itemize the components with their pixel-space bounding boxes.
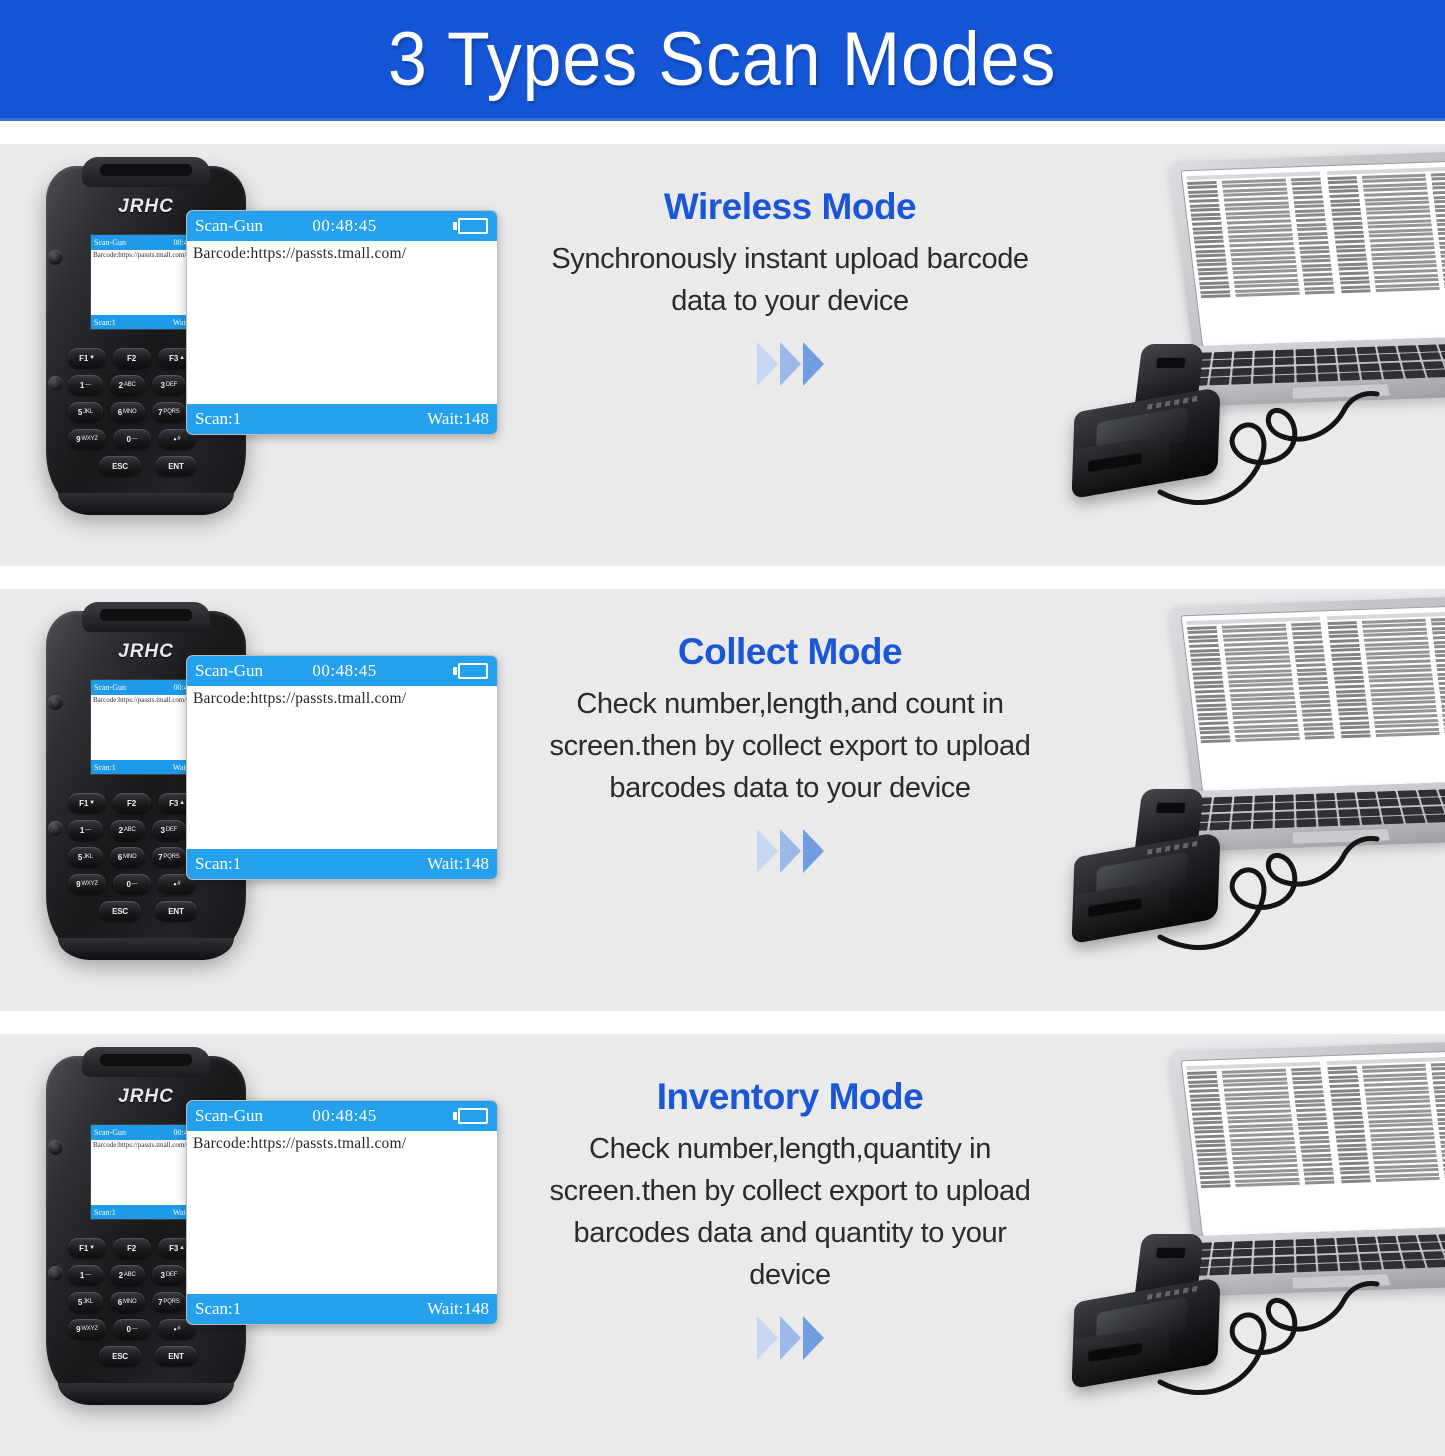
- key-9[interactable]: 9WXYZ: [68, 1319, 106, 1339]
- embedded-screen-title: Scan-Gun: [94, 1128, 126, 1137]
- chevron-right-icon: [757, 342, 778, 386]
- key-6[interactable]: 6MNO: [110, 847, 145, 867]
- scanner-screen-callout: Scan-Gun 00:48:45 Barcode:https://passts…: [186, 655, 498, 880]
- panel-gap: [0, 1011, 1445, 1034]
- embedded-scan-count: Scan:1: [94, 1208, 116, 1217]
- screen-clock: 00:48:45: [312, 1106, 376, 1126]
- screen-barcode-text: Barcode:https://passts.tmall.com/: [187, 686, 497, 849]
- screen-titlebar: Scan-Gun 00:48:45: [187, 211, 497, 241]
- screen-clock: 00:48:45: [312, 216, 376, 236]
- keypad-row-control: ESCENT: [68, 1346, 228, 1366]
- key-esc[interactable]: ESC: [99, 456, 141, 476]
- chevron-right-triple-icon: [757, 829, 824, 873]
- mode-panel-wireless: JRHC Scan-Gun 00:48:45 Barcode:https://p…: [0, 144, 1445, 566]
- screen-statusbar: Scan:1 Wait:148: [187, 404, 497, 434]
- key-f2[interactable]: F2: [113, 793, 151, 813]
- scan-count: Scan:1: [195, 409, 241, 429]
- mode-text-collect: Collect Mode Check number,length,and cou…: [520, 589, 1060, 1011]
- key-3[interactable]: 3DEF: [152, 820, 187, 840]
- battery-icon: [453, 218, 488, 234]
- scanner-illustration-inventory: JRHC Scan-Gun 00:48:45 Barcode:https://p…: [38, 1048, 508, 1443]
- key-ent[interactable]: ENT: [155, 456, 197, 476]
- key-1[interactable]: 1—: [68, 1265, 103, 1285]
- usb-cable-icon: [1055, 589, 1445, 1011]
- screen-title: Scan-Gun: [195, 1106, 263, 1126]
- key-2[interactable]: 2ABC: [110, 1265, 145, 1285]
- screen-barcode-text: Barcode:https://passts.tmall.com/: [187, 241, 497, 404]
- screw-icon: [48, 1140, 63, 1155]
- screen-title: Scan-Gun: [195, 661, 263, 681]
- scanner-head: [82, 157, 210, 187]
- embedded-screen-title: Scan-Gun: [94, 238, 126, 247]
- key-ent[interactable]: ENT: [155, 901, 197, 921]
- key-5[interactable]: 5JKL: [68, 847, 103, 867]
- keypad-row-control: ESCENT: [68, 901, 228, 921]
- key-6[interactable]: 6MNO: [110, 402, 145, 422]
- key-0[interactable]: 0—: [113, 874, 151, 894]
- laptop-cradle-scene: [1055, 1034, 1445, 1456]
- key-9[interactable]: 9WXYZ: [68, 874, 106, 894]
- screen-title: Scan-Gun: [195, 216, 263, 236]
- usb-cable-icon: [1055, 144, 1445, 566]
- wait-count: Wait:148: [427, 409, 489, 429]
- key-1[interactable]: 1—: [68, 820, 103, 840]
- mode-panel-collect: JRHC Scan-Gun 00:48:45 Barcode:https://p…: [0, 589, 1445, 1011]
- scanner-head: [82, 1047, 210, 1077]
- key-5[interactable]: 5JKL: [68, 1292, 103, 1312]
- scan-count: Scan:1: [195, 854, 241, 874]
- key-f1[interactable]: F1▼: [68, 1238, 106, 1258]
- screw-icon: [48, 1266, 63, 1281]
- key-f2[interactable]: F2: [113, 1238, 151, 1258]
- screen-statusbar: Scan:1 Wait:148: [187, 1294, 497, 1324]
- key-9[interactable]: 9WXYZ: [68, 429, 106, 449]
- scanner-foot: [58, 493, 234, 515]
- scanner-illustration-wireless: JRHC Scan-Gun 00:48:45 Barcode:https://p…: [38, 158, 508, 553]
- mode-title: Wireless Mode: [664, 186, 916, 228]
- screw-icon: [48, 250, 63, 265]
- embedded-scan-count: Scan:1: [94, 763, 116, 772]
- scan-count: Scan:1: [195, 1299, 241, 1319]
- scanner-illustration-collect: JRHC Scan-Gun 00:48:45 Barcode:https://p…: [38, 603, 508, 998]
- battery-icon: [453, 663, 488, 679]
- chevron-right-icon: [803, 1316, 824, 1360]
- screw-icon: [48, 695, 63, 710]
- chevron-right-icon: [780, 342, 801, 386]
- key-f1[interactable]: F1▼: [68, 348, 106, 368]
- key-esc[interactable]: ESC: [99, 1346, 141, 1366]
- key-f1[interactable]: F1▼: [68, 793, 106, 813]
- header-banner: 3 Types Scan Modes: [0, 0, 1445, 118]
- key-7[interactable]: 7PQRS: [152, 1292, 187, 1312]
- screw-icon: [48, 376, 63, 391]
- key-2[interactable]: 2ABC: [110, 820, 145, 840]
- key-2[interactable]: 2ABC: [110, 375, 145, 395]
- chevron-right-icon: [780, 829, 801, 873]
- chevron-right-icon: [803, 829, 824, 873]
- key-5[interactable]: 5JKL: [68, 402, 103, 422]
- laptop-cradle-scene: [1055, 144, 1445, 566]
- scanner-screen-callout: Scan-Gun 00:48:45 Barcode:https://passts…: [186, 1100, 498, 1325]
- key-0[interactable]: 0—: [113, 429, 151, 449]
- key-1[interactable]: 1—: [68, 375, 103, 395]
- usb-cable-icon: [1055, 1034, 1445, 1456]
- chevron-right-icon: [780, 1316, 801, 1360]
- scanner-screen-callout: Scan-Gun 00:48:45 Barcode:https://passts…: [186, 210, 498, 435]
- screen-titlebar: Scan-Gun 00:48:45: [187, 1101, 497, 1131]
- screw-icon: [48, 821, 63, 836]
- keypad-row-control: ESCENT: [68, 456, 228, 476]
- laptop-cradle-scene: [1055, 589, 1445, 1011]
- mode-text-wireless: Wireless Mode Synchronously instant uplo…: [520, 144, 1060, 566]
- key-7[interactable]: 7PQRS: [152, 402, 187, 422]
- mode-description: Check number,length,and count in screen.…: [530, 683, 1050, 809]
- chevron-right-triple-icon: [757, 342, 824, 386]
- header-gap: [0, 121, 1445, 144]
- scanner-foot: [58, 1383, 234, 1405]
- screen-clock: 00:48:45: [312, 661, 376, 681]
- mode-description: Check number,length,quantity in screen.t…: [530, 1128, 1050, 1296]
- key-3[interactable]: 3DEF: [152, 375, 187, 395]
- panel-gap: [0, 566, 1445, 589]
- key-3[interactable]: 3DEF: [152, 1265, 187, 1285]
- key-6[interactable]: 6MNO: [110, 1292, 145, 1312]
- key-0[interactable]: 0—: [113, 1319, 151, 1339]
- scanner-head: [82, 602, 210, 632]
- chevron-right-icon: [757, 829, 778, 873]
- page-title: 3 Types Scan Modes: [388, 16, 1056, 103]
- embedded-screen-title: Scan-Gun: [94, 683, 126, 692]
- mode-panel-inventory: JRHC Scan-Gun 00:48:45 Barcode:https://p…: [0, 1034, 1445, 1456]
- wait-count: Wait:148: [427, 1299, 489, 1319]
- screen-titlebar: Scan-Gun 00:48:45: [187, 656, 497, 686]
- mode-title: Inventory Mode: [657, 1076, 923, 1118]
- key-f2[interactable]: F2: [113, 348, 151, 368]
- chevron-right-icon: [757, 1316, 778, 1360]
- screen-barcode-text: Barcode:https://passts.tmall.com/: [187, 1131, 497, 1294]
- key-esc[interactable]: ESC: [99, 901, 141, 921]
- screen-statusbar: Scan:1 Wait:148: [187, 849, 497, 879]
- scanner-foot: [58, 938, 234, 960]
- mode-text-inventory: Inventory Mode Check number,length,quant…: [520, 1034, 1060, 1456]
- chevron-right-triple-icon: [757, 1316, 824, 1360]
- embedded-scan-count: Scan:1: [94, 318, 116, 327]
- battery-icon: [453, 1108, 488, 1124]
- wait-count: Wait:148: [427, 854, 489, 874]
- mode-title: Collect Mode: [678, 631, 902, 673]
- mode-description: Synchronously instant upload barcode dat…: [530, 238, 1050, 322]
- key-7[interactable]: 7PQRS: [152, 847, 187, 867]
- chevron-right-icon: [803, 342, 824, 386]
- key-ent[interactable]: ENT: [155, 1346, 197, 1366]
